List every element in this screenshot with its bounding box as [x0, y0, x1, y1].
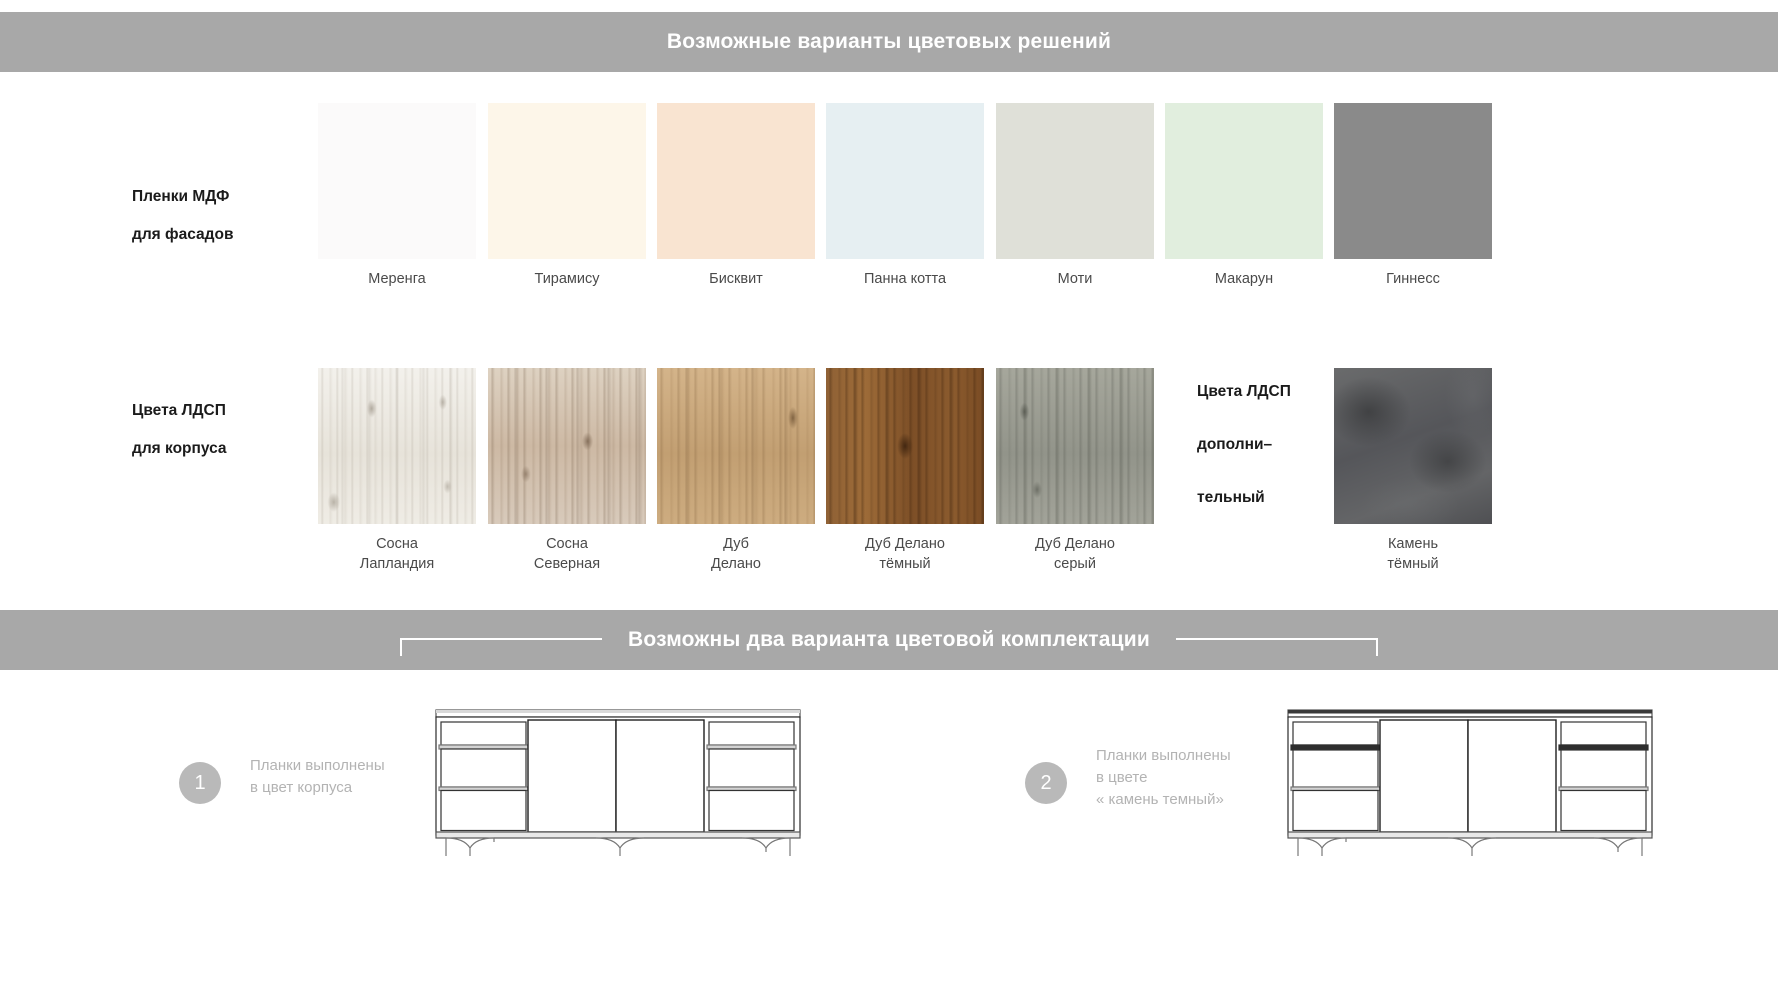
option-1-number: 1 [179, 762, 221, 804]
extra-ldsp-label-line3: тельный [1197, 474, 1265, 521]
color-options-page: Возможные варианты цветовых решений Плен… [0, 0, 1778, 1000]
swatch-ginness-label: Гиннесс [1314, 269, 1512, 289]
swatch-sosna-laplandiya-chip [318, 368, 476, 524]
sideboard-drawing-option-2 [1280, 698, 1660, 858]
swatch-makarun[interactable]: Макарун [1165, 103, 1323, 259]
top-banner-title: Возможные варианты цветовых решений [667, 30, 1111, 54]
swatch-dub-delano-chip [657, 368, 815, 524]
swatch-merenga[interactable]: Меренга [318, 103, 476, 259]
row1-label-line1: Пленки МДФ [132, 178, 229, 215]
top-banner: Возможные варианты цветовых решений [0, 12, 1778, 72]
swatch-sosna-severnaya-chip [488, 368, 646, 524]
swatch-dub-delano-seryy-chip [996, 368, 1154, 524]
swatch-kamen-temnyy-chip [1334, 368, 1492, 524]
bracket-right-decoration [1176, 638, 1378, 656]
row1-label-line2: для фасадов [132, 216, 233, 253]
swatch-merenga-chip [318, 103, 476, 259]
bottom-banner-title: Возможны два варианта цветовой комплекта… [628, 628, 1150, 652]
swatch-panna-kotta-chip [826, 103, 984, 259]
swatch-dub-delano-temnyy[interactable]: Дуб Делано тёмный [826, 368, 984, 524]
swatch-dub-delano[interactable]: Дуб Делано [657, 368, 815, 524]
swatch-kamen-temnyy[interactable]: Камень тёмный [1334, 368, 1492, 524]
option-2-description: Планки выполнены в цвете « камень темный… [1096, 745, 1231, 811]
swatch-tiramisu[interactable]: Тирамису [488, 103, 646, 259]
swatch-merenga-label: Меренга [298, 269, 496, 289]
swatch-dub-delano-seryy-label: Дуб Делано серый [976, 534, 1174, 574]
swatch-makarun-chip [1165, 103, 1323, 259]
swatch-biskvit-chip [657, 103, 815, 259]
swatch-panna-kotta-label: Панна котта [806, 269, 1004, 289]
extra-ldsp-label-line2: дополни– [1197, 421, 1272, 468]
swatch-biskvit[interactable]: Бисквит [657, 103, 815, 259]
swatch-sosna-laplandiya[interactable]: Сосна Лапландия [318, 368, 476, 524]
option-2-number: 2 [1025, 762, 1067, 804]
swatch-ginness[interactable]: Гиннесс [1334, 103, 1492, 259]
option-2-number-text: 2 [1040, 772, 1051, 795]
extra-ldsp-label-line1: Цвета ЛДСП [1197, 368, 1291, 415]
bottom-banner: Возможны два варианта цветовой комплекта… [0, 610, 1778, 670]
swatch-tiramisu-chip [488, 103, 646, 259]
bracket-left-decoration [400, 638, 602, 656]
swatch-sosna-laplandiya-label: Сосна Лапландия [298, 534, 496, 574]
swatch-ginness-chip [1334, 103, 1492, 259]
swatch-moti[interactable]: Моти [996, 103, 1154, 259]
option-1-description: Планки выполнены в цвет корпуса [250, 755, 385, 799]
swatch-dub-delano-seryy[interactable]: Дуб Делано серый [996, 368, 1154, 524]
row2-label-line1: Цвета ЛДСП [132, 392, 226, 429]
row2-label-line2: для корпуса [132, 430, 227, 467]
option-1-number-text: 1 [194, 772, 205, 795]
swatch-sosna-severnaya[interactable]: Сосна Северная [488, 368, 646, 524]
swatch-dub-delano-temnyy-chip [826, 368, 984, 524]
swatch-kamen-temnyy-label: Камень тёмный [1314, 534, 1512, 574]
swatch-moti-chip [996, 103, 1154, 259]
swatch-dub-delano-temnyy-label: Дуб Делано тёмный [806, 534, 1004, 574]
sideboard-drawing-option-1 [428, 698, 808, 858]
swatch-panna-kotta[interactable]: Панна котта [826, 103, 984, 259]
